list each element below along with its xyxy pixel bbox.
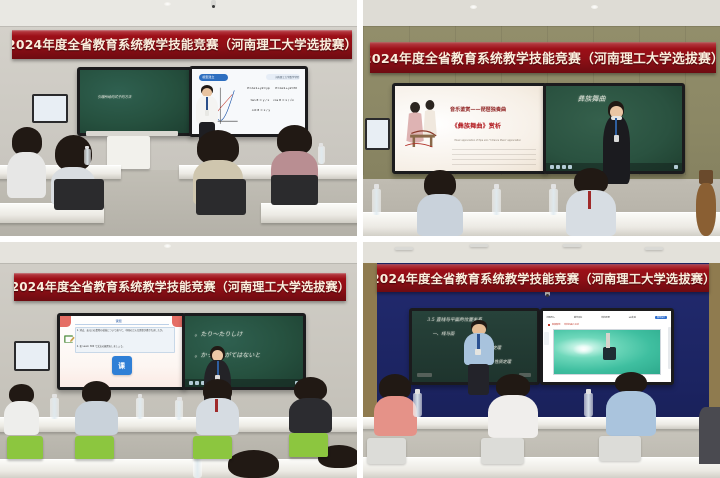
audience-member bbox=[196, 379, 239, 436]
chalkboard-text: 引理所给的式子的方法 bbox=[97, 94, 131, 99]
camera-icon bbox=[211, 0, 216, 7]
board-panel-white bbox=[107, 136, 150, 169]
chair bbox=[481, 438, 524, 464]
audience-member bbox=[699, 407, 720, 464]
pipa-instrument bbox=[695, 170, 716, 236]
slide-tab-bar: 问题导入 教学目标 结构原理 HR实验 案例设计 bbox=[543, 313, 672, 321]
slide-subtitle-en: Music appreciation of Pipa solo 'Yi Danc… bbox=[455, 139, 522, 142]
slide-subtitle-row: 视频案例： 结构机器人运动 bbox=[548, 323, 579, 326]
slide-scrollbar[interactable] bbox=[668, 327, 671, 369]
audience-lanyard bbox=[215, 399, 218, 413]
water-bottle bbox=[84, 149, 91, 166]
banner-text: 2024年度全省教育系统教学技能竞赛（河南理工大学选拔赛） bbox=[377, 269, 709, 287]
wall-side-trim bbox=[709, 263, 720, 426]
audience-torso bbox=[75, 401, 118, 436]
side-monitor bbox=[32, 94, 68, 123]
audience-torso bbox=[417, 194, 463, 236]
slide-item-1: 1. 消去、あるいは患物の枯枝について述べて、中国のどんな思想が書かれましたか。 bbox=[77, 329, 165, 332]
audience-torso bbox=[196, 398, 239, 435]
presenter-badge bbox=[205, 110, 209, 116]
toolbar-dot[interactable] bbox=[674, 165, 678, 169]
presentation-screen: 音乐鉴赏——琵琶独奏曲 《彝族舞曲》赏析 Music appreciation … bbox=[392, 83, 548, 174]
audience-member bbox=[4, 384, 40, 436]
chair bbox=[75, 436, 114, 460]
presenter-badge bbox=[475, 349, 481, 355]
water-bottle bbox=[413, 393, 422, 417]
audience-torso bbox=[374, 396, 417, 435]
banner-text: 2024年度全省教育系统教学技能竞赛（河南理工大学选拔赛） bbox=[370, 48, 716, 67]
slide-formula-2: P=Ax1+y2=M bbox=[275, 86, 296, 90]
audience-torso bbox=[4, 401, 40, 435]
slide-tab-0[interactable]: 问题导入 bbox=[547, 316, 555, 319]
ceiling-light-bar bbox=[563, 244, 581, 247]
audience-torso bbox=[606, 391, 656, 436]
slide-score-lines bbox=[452, 148, 536, 165]
chair bbox=[196, 179, 246, 214]
light-glint bbox=[573, 344, 594, 355]
chair bbox=[271, 175, 317, 206]
water-bottle bbox=[136, 398, 145, 419]
ceiling bbox=[363, 0, 720, 26]
slide-title-line1: 音乐鉴赏——琵琶独奏曲 bbox=[450, 106, 506, 113]
audience-torso bbox=[488, 395, 538, 438]
chalkboard-line-2: 一、线与面 bbox=[432, 331, 454, 337]
chair bbox=[289, 433, 328, 457]
presenter-badge bbox=[614, 135, 619, 142]
chair bbox=[367, 438, 406, 464]
slide-subtitle-text: 结构机器人运动 bbox=[564, 323, 579, 326]
panel-bottom-right: 2024年度全省教育系统教学技能竞赛（河南理工大学选拔赛） 3.5 直线与平面的… bbox=[363, 242, 720, 478]
ceiling-edge bbox=[0, 26, 357, 27]
panel-top-left: 2024年度全省教育系统教学技能竞赛（河南理工大学选拔赛） 引理所给的式子的方法… bbox=[0, 0, 357, 236]
side-monitor bbox=[365, 118, 390, 150]
slide-formula-3: tan θ = y / x bbox=[251, 98, 270, 102]
bullet-icon bbox=[548, 324, 550, 326]
slide-title-line2: 《彝族舞曲》赏析 bbox=[452, 121, 502, 130]
audience-torso bbox=[289, 398, 332, 433]
water-bottle bbox=[584, 393, 593, 417]
slide-formula-5: cot θ = x / y bbox=[252, 108, 270, 112]
audience-member bbox=[75, 381, 118, 435]
ceiling bbox=[0, 0, 357, 26]
ceiling bbox=[363, 242, 720, 263]
presenter-lanyard bbox=[206, 97, 208, 111]
slide-tab-3[interactable]: HR实验 bbox=[629, 316, 636, 319]
slide-header: 课题 bbox=[116, 318, 122, 323]
audience-member bbox=[566, 168, 616, 236]
event-banner: 2024年度全省教育系统教学技能竞赛（河南理工大学选拔赛） bbox=[12, 30, 351, 60]
chair bbox=[599, 436, 642, 462]
audience-hair bbox=[228, 450, 279, 478]
slide-video-frame[interactable] bbox=[553, 329, 661, 375]
notebook-icon bbox=[63, 332, 75, 346]
slide-formula-4: cos θ = x / √x bbox=[273, 98, 294, 102]
side-monitor bbox=[14, 341, 50, 371]
ceiling-light-bar bbox=[395, 247, 413, 250]
ceiling-light-bar bbox=[470, 244, 488, 247]
presentation-screen: 课题 1. 消去、あるいは患物の枯枝について述べて、中国のどんな思想が書かれまし… bbox=[57, 313, 186, 390]
event-banner: 2024年度全省教育系统教学技能竞赛（河南理工大学选拔赛） bbox=[370, 42, 716, 73]
board-tool-tab[interactable] bbox=[417, 373, 432, 377]
event-banner: 2024年度全省教育系统教学技能竞赛（河南理工大学选拔赛） bbox=[14, 273, 346, 301]
course-logo: 课 bbox=[112, 356, 132, 375]
slide-tag-label: 模型建立 bbox=[202, 75, 214, 79]
desk-row-back bbox=[0, 459, 357, 478]
toolbar-dot[interactable] bbox=[556, 165, 560, 169]
robot-arm bbox=[606, 333, 610, 348]
water-bottle bbox=[318, 146, 325, 164]
slide-tab-4-active[interactable]: 案例设计 bbox=[655, 316, 667, 319]
slide-item-2: 2. 和 Learn 300 で文法の練習をしましょう。 bbox=[77, 344, 125, 348]
event-banner: 2024年度全省教育系统教学技能竞赛（河南理工大学选拔赛） bbox=[377, 264, 709, 291]
chalkboard-line-1: 。たり〜たりしけ bbox=[194, 329, 242, 338]
audience-member bbox=[374, 374, 417, 435]
toolbar-dot[interactable] bbox=[189, 381, 193, 385]
ceiling-edge bbox=[363, 26, 720, 27]
chair bbox=[7, 436, 43, 460]
slide-header-rule bbox=[75, 324, 169, 325]
robot-shape bbox=[603, 347, 617, 360]
ceiling-light bbox=[470, 5, 477, 9]
slide-deco-left bbox=[60, 316, 71, 327]
chalkboard-left: 引理所给的式子的方法 bbox=[77, 67, 194, 136]
ceiling-edge bbox=[0, 263, 357, 264]
audience-member bbox=[606, 372, 656, 436]
audience-lanyard bbox=[588, 191, 591, 209]
audience-member bbox=[7, 127, 46, 198]
water-bottle bbox=[549, 189, 558, 215]
chair bbox=[193, 436, 232, 460]
desk-row-back bbox=[363, 457, 720, 478]
water-bottle bbox=[193, 457, 202, 478]
toolbar-dot[interactable] bbox=[550, 165, 554, 169]
audience-torso bbox=[566, 190, 616, 236]
water-bottle bbox=[175, 400, 184, 420]
photo-collage: 2024年度全省教育系统教学技能竞赛（河南理工大学选拔赛） 引理所给的式子的方法… bbox=[0, 0, 720, 478]
slide-tab-1[interactable]: 教学目标 bbox=[574, 316, 582, 319]
desk-row-back-2 bbox=[261, 203, 357, 223]
water-bottle bbox=[492, 189, 501, 215]
chair bbox=[54, 179, 104, 210]
presenter-legs bbox=[468, 364, 489, 396]
slide-left-rail bbox=[544, 332, 549, 345]
presenter-lanyard bbox=[615, 118, 617, 136]
banner-text: 2024年度全省教育系统教学技能竞赛（河南理工大学选拔赛） bbox=[14, 278, 346, 295]
audience-member bbox=[488, 374, 538, 438]
audience-torso bbox=[7, 152, 46, 198]
ceiling-light-bar bbox=[645, 247, 663, 250]
audience-torso bbox=[699, 407, 720, 464]
course-logo-char: 课 bbox=[118, 361, 125, 371]
water-bottle bbox=[50, 398, 59, 419]
slide-corner-note: 河南理工大学数学学院 bbox=[275, 75, 299, 79]
board-tray bbox=[86, 131, 179, 136]
ceiling bbox=[0, 242, 357, 263]
slide-illustration bbox=[399, 92, 448, 160]
panel-top-right: 2024年度全省教育系统教学技能竞赛（河南理工大学选拔赛） 音乐鉴赏——琵琶独奏… bbox=[363, 0, 720, 236]
audience-member bbox=[417, 170, 463, 236]
slide-tab-2[interactable]: 结构原理 bbox=[601, 316, 609, 319]
slide-formula-1: P=Ax1+y2=yp bbox=[247, 86, 269, 90]
slide-subtitle-label: 视频案例： bbox=[552, 323, 562, 326]
banner-text: 2024年度全省教育系统教学技能竞赛（河南理工大学选拔赛） bbox=[12, 35, 351, 53]
water-bottle bbox=[372, 189, 381, 215]
ceiling-light bbox=[591, 5, 598, 9]
presenter-lanyard bbox=[217, 361, 219, 376]
audience-member bbox=[289, 377, 332, 434]
desk-row-front bbox=[363, 417, 720, 430]
panel-bottom-left: 2024年度全省教育系统教学技能竞赛（河南理工大学选拔赛） 课题 1. 消去、あ… bbox=[0, 242, 357, 478]
